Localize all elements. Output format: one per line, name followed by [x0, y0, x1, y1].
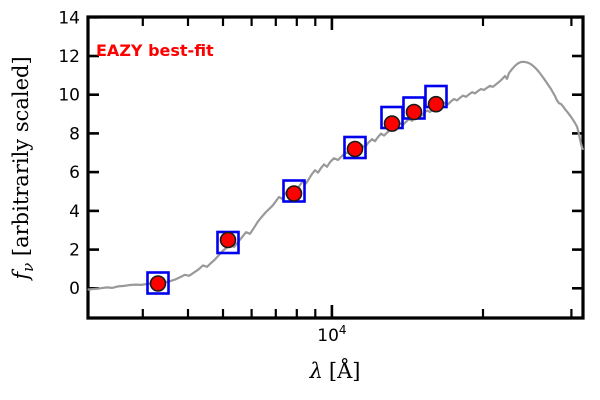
obs-point-7 [429, 97, 444, 112]
observed-photometry-markers [151, 97, 444, 291]
eazy-best-fit-curve [89, 62, 583, 290]
svg-text:λ[Å]: λ[Å] [309, 358, 361, 383]
x-axis-title: λ[Å] [309, 358, 361, 383]
obs-point-3 [287, 186, 302, 201]
y-ticklabel-14: 14 [58, 8, 80, 28]
y-ticklabel-0: 0 [69, 279, 80, 299]
x-ticklabel-10000: 104 [317, 323, 346, 346]
x-axis-title-unit: [Å] [329, 358, 361, 383]
y-axis-title: fν [arbitrarily scaled] [9, 56, 37, 281]
y-axis-tick-labels: 0 2 4 6 8 10 12 14 [58, 8, 80, 299]
obs-point-2 [221, 233, 236, 248]
x-axis-tick-labels: 104 [317, 323, 346, 346]
eazy-best-fit-annotation: EAZY best-fit [96, 41, 214, 60]
y-ticklabel-12: 12 [58, 47, 80, 67]
sed-curve-group [89, 62, 583, 290]
y-ticklabel-8: 8 [69, 124, 80, 144]
y-ticklabel-6: 6 [69, 163, 80, 183]
obs-point-6 [407, 105, 422, 120]
y-axis-title-nu: ν [19, 263, 37, 272]
x-ticklabel-exponent: 4 [339, 323, 347, 337]
y-axis-title-rest: [arbitrarily scaled] [9, 56, 33, 262]
x-axis-title-lambda: λ [309, 359, 323, 383]
svg-text:fν [arbitrarily scaled]: fν [arbitrarily scaled] [9, 56, 37, 281]
x-axis-ticks [143, 17, 572, 318]
plot-canvas: 0 2 4 6 8 10 12 14 [0, 0, 600, 400]
obs-point-4 [348, 142, 363, 157]
sed-figure: 0 2 4 6 8 10 12 14 [0, 0, 600, 400]
y-ticklabel-4: 4 [69, 202, 80, 222]
obs-point-5 [385, 116, 400, 131]
x-ticklabel-mantissa: 10 [317, 326, 339, 346]
obs-point-1 [151, 276, 166, 291]
y-ticklabel-2: 2 [69, 241, 80, 261]
y-ticklabel-10: 10 [58, 86, 80, 106]
